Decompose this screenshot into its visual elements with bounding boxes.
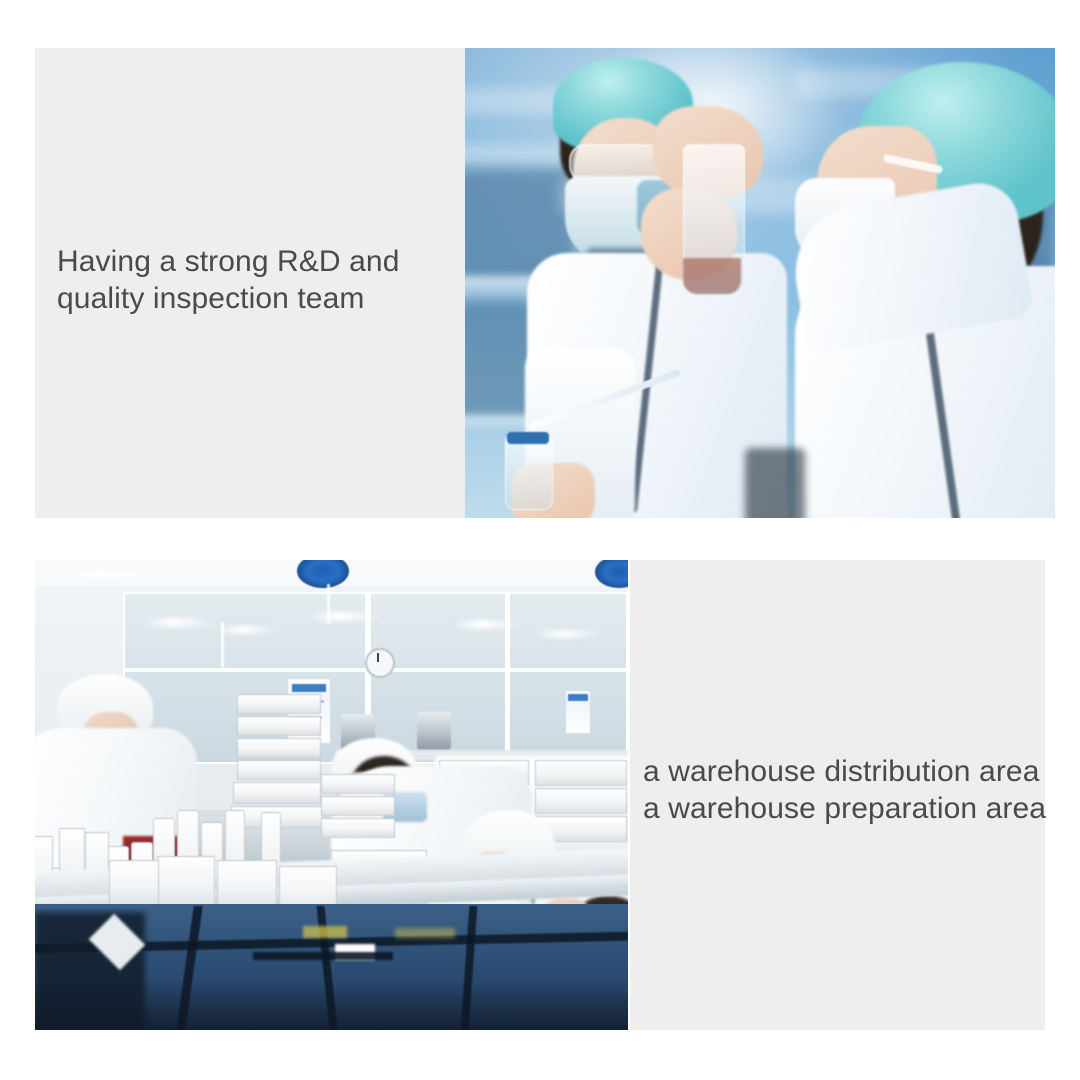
warehouse-caption-line-2: a warehouse preparation area — [643, 790, 1043, 827]
rd-caption-line-2: quality inspection team — [57, 280, 457, 317]
warehouse-caption: a warehouse distribution area a warehous… — [643, 753, 1043, 827]
rd-caption-line-1: Having a strong R&D and — [57, 243, 457, 280]
rd-caption: Having a strong R&D and quality inspecti… — [57, 243, 457, 317]
page-root: Having a strong R&D and quality inspecti… — [0, 0, 1080, 1080]
wall-clock — [365, 648, 395, 678]
warehouse-packing-photo — [35, 560, 628, 1030]
lab-quality-inspection-photo — [465, 48, 1055, 518]
lab-vial-left — [505, 436, 553, 510]
warehouse-caption-line-1: a warehouse distribution area — [643, 753, 1043, 790]
